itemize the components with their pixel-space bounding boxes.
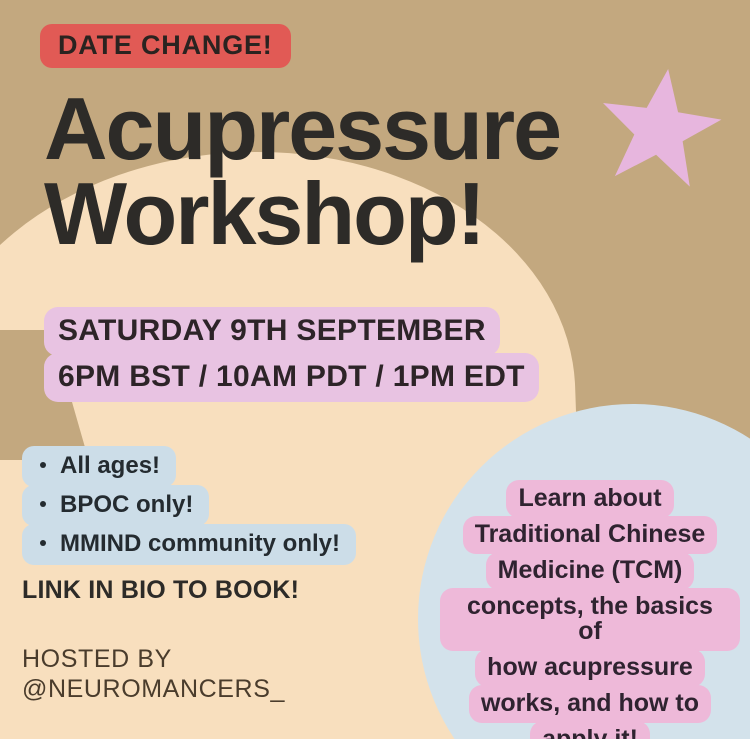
eligibility-list: All ages! BPOC only! MMIND community onl… — [22, 446, 356, 565]
bullet-dot-icon — [40, 501, 46, 507]
description-line-5: how acupressure — [475, 649, 705, 687]
host-credit: HOSTED BY @NEUROMANCERS_ — [22, 645, 285, 704]
page-title-line-2: Workshop! — [44, 171, 724, 256]
event-date-line: SATURDAY 9TH SEPTEMBER — [44, 307, 500, 356]
event-time-line: 6PM BST / 10AM PDT / 1PM EDT — [44, 353, 539, 402]
event-datetime: SATURDAY 9TH SEPTEMBER 6PM BST / 10AM PD… — [44, 307, 539, 402]
list-item-label: All ages! — [60, 452, 160, 479]
description-line-4: concepts, the basics of — [440, 588, 740, 651]
workshop-description: Learn about Traditional Chinese Medicine… — [440, 480, 740, 739]
date-change-badge: DATE CHANGE! — [40, 24, 291, 68]
description-line-7: apply it! — [530, 721, 650, 739]
description-line-2: Traditional Chinese — [463, 516, 718, 554]
page-title: Acupressure Workshop! — [44, 86, 724, 257]
page-title-line-1: Acupressure — [44, 86, 724, 171]
list-item: All ages! — [22, 446, 176, 487]
host-credit-label: HOSTED BY — [22, 645, 285, 675]
poster-content: DATE CHANGE! Acupressure Workshop! SATUR… — [0, 0, 750, 739]
bullet-dot-icon — [40, 462, 46, 468]
list-item: BPOC only! — [22, 485, 209, 526]
list-item-label: MMIND community only! — [60, 530, 340, 557]
booking-cta-text: LINK IN BIO TO BOOK! — [22, 576, 299, 605]
description-line-1: Learn about — [506, 480, 673, 518]
poster-canvas: DATE CHANGE! Acupressure Workshop! SATUR… — [0, 0, 750, 739]
list-item-label: BPOC only! — [60, 491, 193, 518]
list-item: MMIND community only! — [22, 524, 356, 565]
host-handle: @NEUROMANCERS_ — [22, 675, 285, 705]
description-line-6: works, and how to — [469, 685, 711, 723]
description-line-3: Medicine (TCM) — [486, 552, 695, 590]
bullet-dot-icon — [40, 540, 46, 546]
